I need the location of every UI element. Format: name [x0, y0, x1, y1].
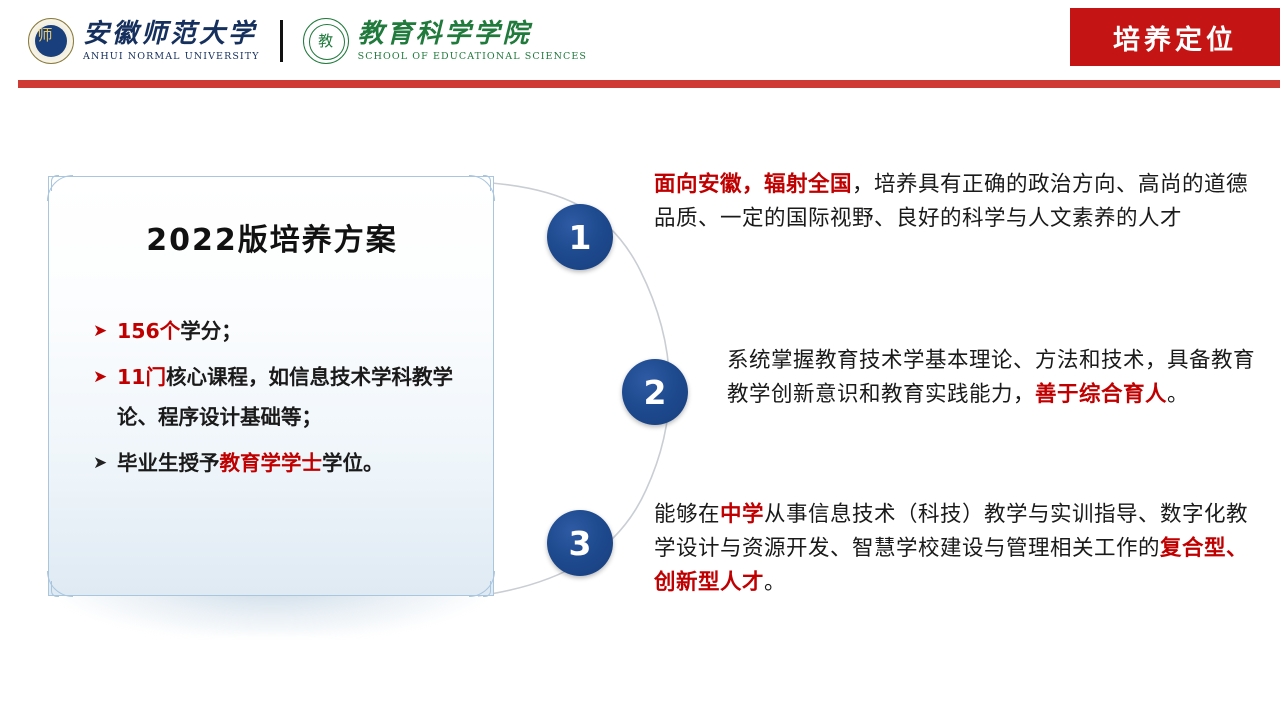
- bullet-part-plain: 学分；: [180, 319, 242, 343]
- bullet-arrow-icon: ➤: [93, 311, 117, 351]
- item-number-badge-3: 3: [547, 510, 613, 576]
- list-item: ➤ 毕业生授予教育学学士学位。: [93, 443, 465, 483]
- school-logo: 教 教育科学学院 SCHOOL OF EDUCATIONAL SCIENCES: [303, 18, 587, 64]
- item-text-1: 面向安徽，辐射全国，培养具有正确的政治方向、高尚的道德品质、一定的国际视野、良好…: [654, 168, 1254, 236]
- bullet-part-highlight: 教育学学士: [220, 451, 323, 475]
- bullet-text: 156个学分；: [117, 311, 242, 351]
- card-tick-top-right: [483, 175, 491, 191]
- bullet-arrow-icon: ➤: [93, 357, 117, 397]
- university-logo: 师 安徽师范大学 ANHUI NORMAL UNIVERSITY: [28, 18, 260, 64]
- bullet-part-plain: 毕业生授予: [117, 451, 220, 475]
- bullet-text: 11门核心课程，如信息技术学科教学论、程序设计基础等；: [117, 357, 465, 437]
- university-seal-glyph: 师: [29, 19, 61, 51]
- school-seal-glyph: 教: [304, 19, 348, 63]
- card-tick-bottom-right: [483, 581, 491, 597]
- card-tick-bottom-left: [51, 581, 59, 597]
- university-seal-icon: 师: [28, 18, 74, 64]
- slide-title-badge: 培养定位: [1070, 8, 1280, 66]
- school-logo-text: 教育科学学院 SCHOOL OF EDUCATIONAL SCIENCES: [358, 20, 587, 61]
- item3-part-highlight-1: 中学: [720, 502, 764, 527]
- item2-part-highlight: 善于综合育人: [1035, 382, 1167, 407]
- item2-part-period: 。: [1167, 382, 1189, 407]
- bullet-text: 毕业生授予教育学学士学位。: [117, 443, 384, 483]
- item-number-badge-1: 1: [547, 204, 613, 270]
- bullet-part-plain: 核心课程，如信息技术学科教学论、程序设计基础等；: [117, 365, 453, 429]
- university-name-en: ANHUI NORMAL UNIVERSITY: [83, 51, 260, 62]
- school-name-en: SCHOOL OF EDUCATIONAL SCIENCES: [358, 51, 587, 62]
- card-bullet-list: ➤ 156个学分； ➤ 11门核心课程，如信息技术学科教学论、程序设计基础等； …: [93, 311, 465, 489]
- item3-part-plain-1: 能够在: [654, 502, 720, 527]
- list-item: ➤ 156个学分；: [93, 311, 465, 351]
- university-name-cn: 安徽师范大学: [83, 20, 260, 48]
- logo-row: 师 安徽师范大学 ANHUI NORMAL UNIVERSITY 教 教育科学学…: [28, 14, 587, 68]
- slide-title-label: 培养定位: [1113, 18, 1237, 57]
- item-text-3: 能够在中学从事信息技术（科技）教学与实训指导、数字化教学设计与资源开发、智慧学校…: [654, 498, 1254, 600]
- school-seal-icon: 教: [303, 18, 349, 64]
- item-text-2: 系统掌握教育技术学基本理论、方法和技术，具备教育教学创新意识和教育实践能力，善于…: [727, 344, 1257, 412]
- item1-part-highlight: 面向安徽，辐射全国: [654, 172, 852, 197]
- bullet-part-highlight: 11门: [117, 365, 166, 389]
- item3-part-period: 。: [764, 570, 786, 595]
- plan-card: 2022版培养方案 ➤ 156个学分； ➤ 11门核心课程，如信息技术学科教学论…: [48, 176, 494, 596]
- school-name-cn: 教育科学学院: [358, 20, 587, 48]
- bullet-part-highlight: 156个: [117, 319, 180, 343]
- list-item: ➤ 11门核心课程，如信息技术学科教学论、程序设计基础等；: [93, 357, 465, 437]
- plan-card-wrapper: 2022版培养方案 ➤ 156个学分； ➤ 11门核心课程，如信息技术学科教学论…: [48, 176, 494, 596]
- card-title: 2022版培养方案: [49, 215, 495, 259]
- logo-divider: [280, 20, 283, 62]
- header-rule: [18, 80, 1280, 88]
- card-tick-top-left: [51, 175, 59, 191]
- bullet-part-plain: 学位。: [322, 451, 384, 475]
- university-logo-text: 安徽师范大学 ANHUI NORMAL UNIVERSITY: [83, 20, 260, 61]
- bullet-arrow-icon: ➤: [93, 443, 117, 483]
- slide-header: 师 安徽师范大学 ANHUI NORMAL UNIVERSITY 教 教育科学学…: [0, 0, 1280, 92]
- item-number-badge-2: 2: [622, 359, 688, 425]
